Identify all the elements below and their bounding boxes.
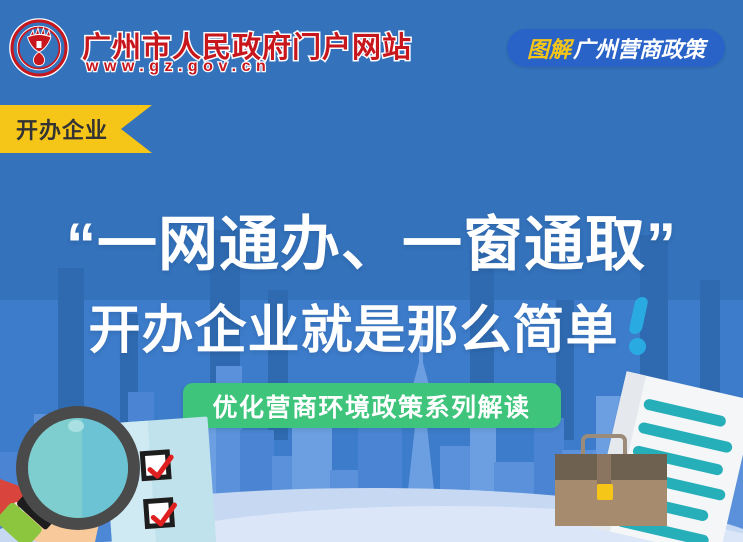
magnifier-checklist-illustration	[0, 402, 240, 542]
category-ribbon-label: 开办企业	[16, 113, 108, 145]
guangzhou-goat-emblem-icon[interactable]	[8, 17, 70, 79]
subtitle-label: 优化营商环境政策系列解读	[212, 388, 530, 424]
briefcase-lock-icon	[597, 484, 613, 500]
series-badge[interactable]: 图解 广州营商政策	[507, 29, 725, 67]
site-header: 广州市人民政府门户网站 www.gz.gov.cn 图解 广州营商政策	[0, 0, 743, 96]
site-url: www.gz.gov.cn	[86, 58, 271, 76]
red-check-mark-icon	[140, 449, 172, 481]
briefcase-document-illustration	[573, 392, 743, 542]
magnifying-glass-icon	[16, 406, 140, 530]
headline-secondary-row: 开办企业就是那么简单	[0, 288, 743, 363]
series-badge-highlight: 图解	[527, 32, 571, 64]
headline-primary: “一网通办、一窗通取”	[0, 196, 743, 283]
infographic-poster: 广州市人民政府门户网站 www.gz.gov.cn 图解 广州营商政策 开办企业…	[0, 0, 743, 542]
series-badge-text: 广州营商政策	[573, 32, 705, 64]
exclamation-mark-icon	[621, 297, 655, 355]
red-check-mark-icon	[143, 497, 175, 529]
headline-secondary: 开办企业就是那么简单	[88, 288, 618, 363]
briefcase-lid	[555, 454, 667, 480]
